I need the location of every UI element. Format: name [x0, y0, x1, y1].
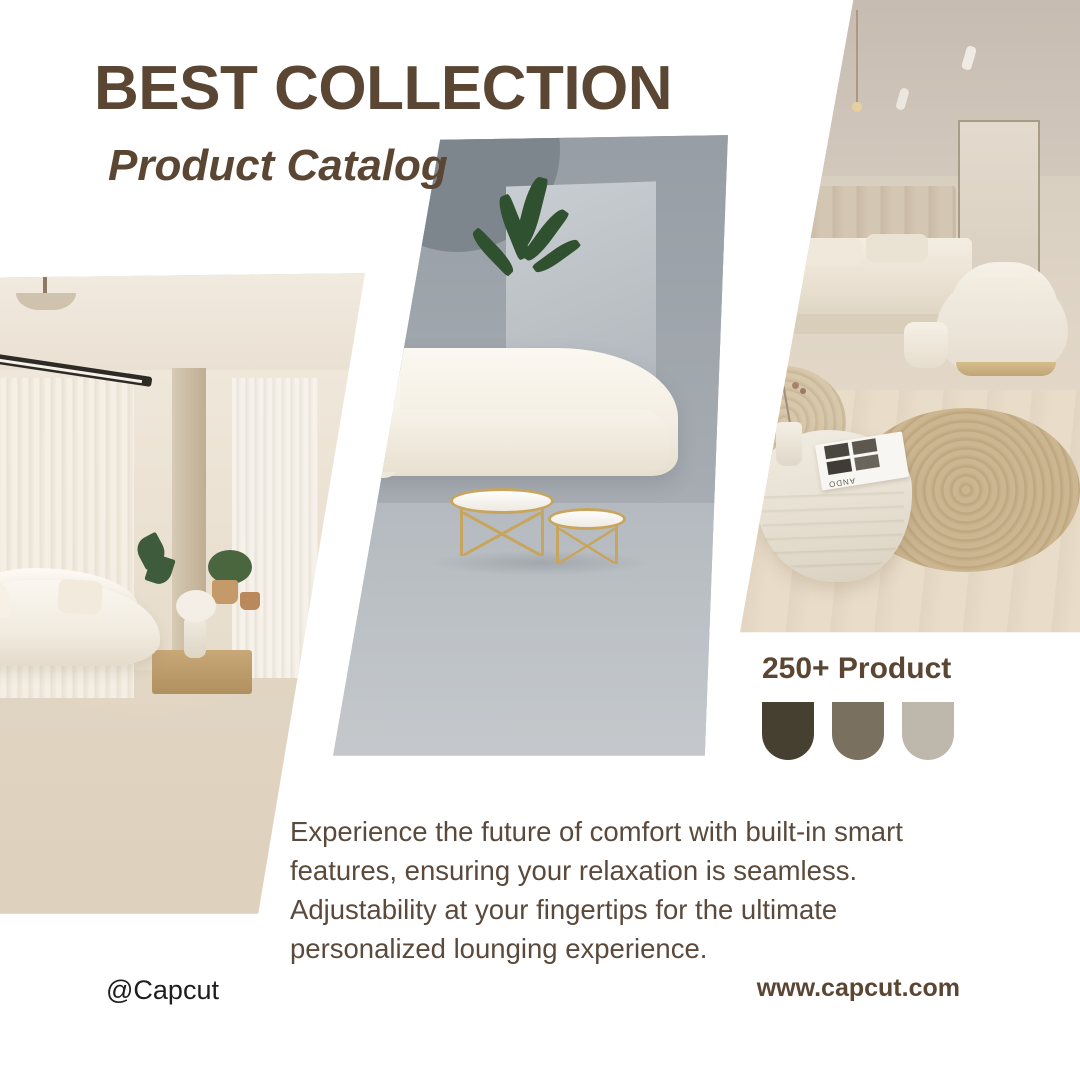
large-marble-table-top — [450, 488, 554, 514]
sofa-seat-cushion — [354, 410, 670, 472]
small-table-cross-brace — [558, 528, 616, 564]
poster-canvas: ANDO BEST COLLECTION Product Catalog 250… — [0, 0, 1080, 1080]
page-title: BEST COLLECTION — [94, 58, 672, 120]
swatch-light-greige[interactable] — [902, 702, 954, 760]
large-table-cross-brace — [462, 512, 542, 556]
window-curtain — [232, 378, 318, 678]
center-studio-photo — [310, 120, 730, 780]
boucle-lounge-chair — [936, 278, 1068, 372]
lily-flowers — [176, 590, 216, 622]
lily-vase — [184, 618, 206, 658]
dried-branch-bud-b — [800, 388, 806, 394]
swatch-taupe[interactable] — [832, 702, 884, 760]
small-marble-table-top — [548, 508, 626, 530]
product-count-block: 250+ Product — [762, 652, 954, 760]
pendant-bulb — [852, 102, 862, 112]
description-paragraph: Experience the future of comfort with bu… — [290, 812, 970, 968]
dried-branch-bud-a — [792, 382, 799, 389]
terracotta-pot-b — [240, 592, 260, 610]
swatch-dark-olive[interactable] — [762, 702, 814, 760]
terracotta-pot-a — [212, 580, 238, 604]
throw-pillow-right — [57, 579, 103, 616]
website-url[interactable]: www.capcut.com — [757, 974, 960, 1003]
page-subtitle: Product Catalog — [108, 144, 672, 188]
small-side-stool — [904, 322, 948, 368]
bed-pillow-left — [800, 238, 862, 266]
ceramic-vase — [776, 422, 802, 466]
pendant-lamp-rod — [43, 274, 47, 294]
social-handle[interactable]: @Capcut — [106, 975, 219, 1006]
title-block: BEST COLLECTION Product Catalog — [94, 58, 672, 188]
shrub-plant — [208, 550, 252, 584]
color-swatch-row — [762, 702, 954, 760]
pendant-rod — [856, 10, 858, 106]
right-bedroom-photo: ANDO — [700, 0, 1080, 650]
bed-pillow-right — [866, 234, 928, 262]
lounge-chair-brass-base — [956, 362, 1056, 376]
product-count-label: 250+ Product — [762, 652, 954, 686]
